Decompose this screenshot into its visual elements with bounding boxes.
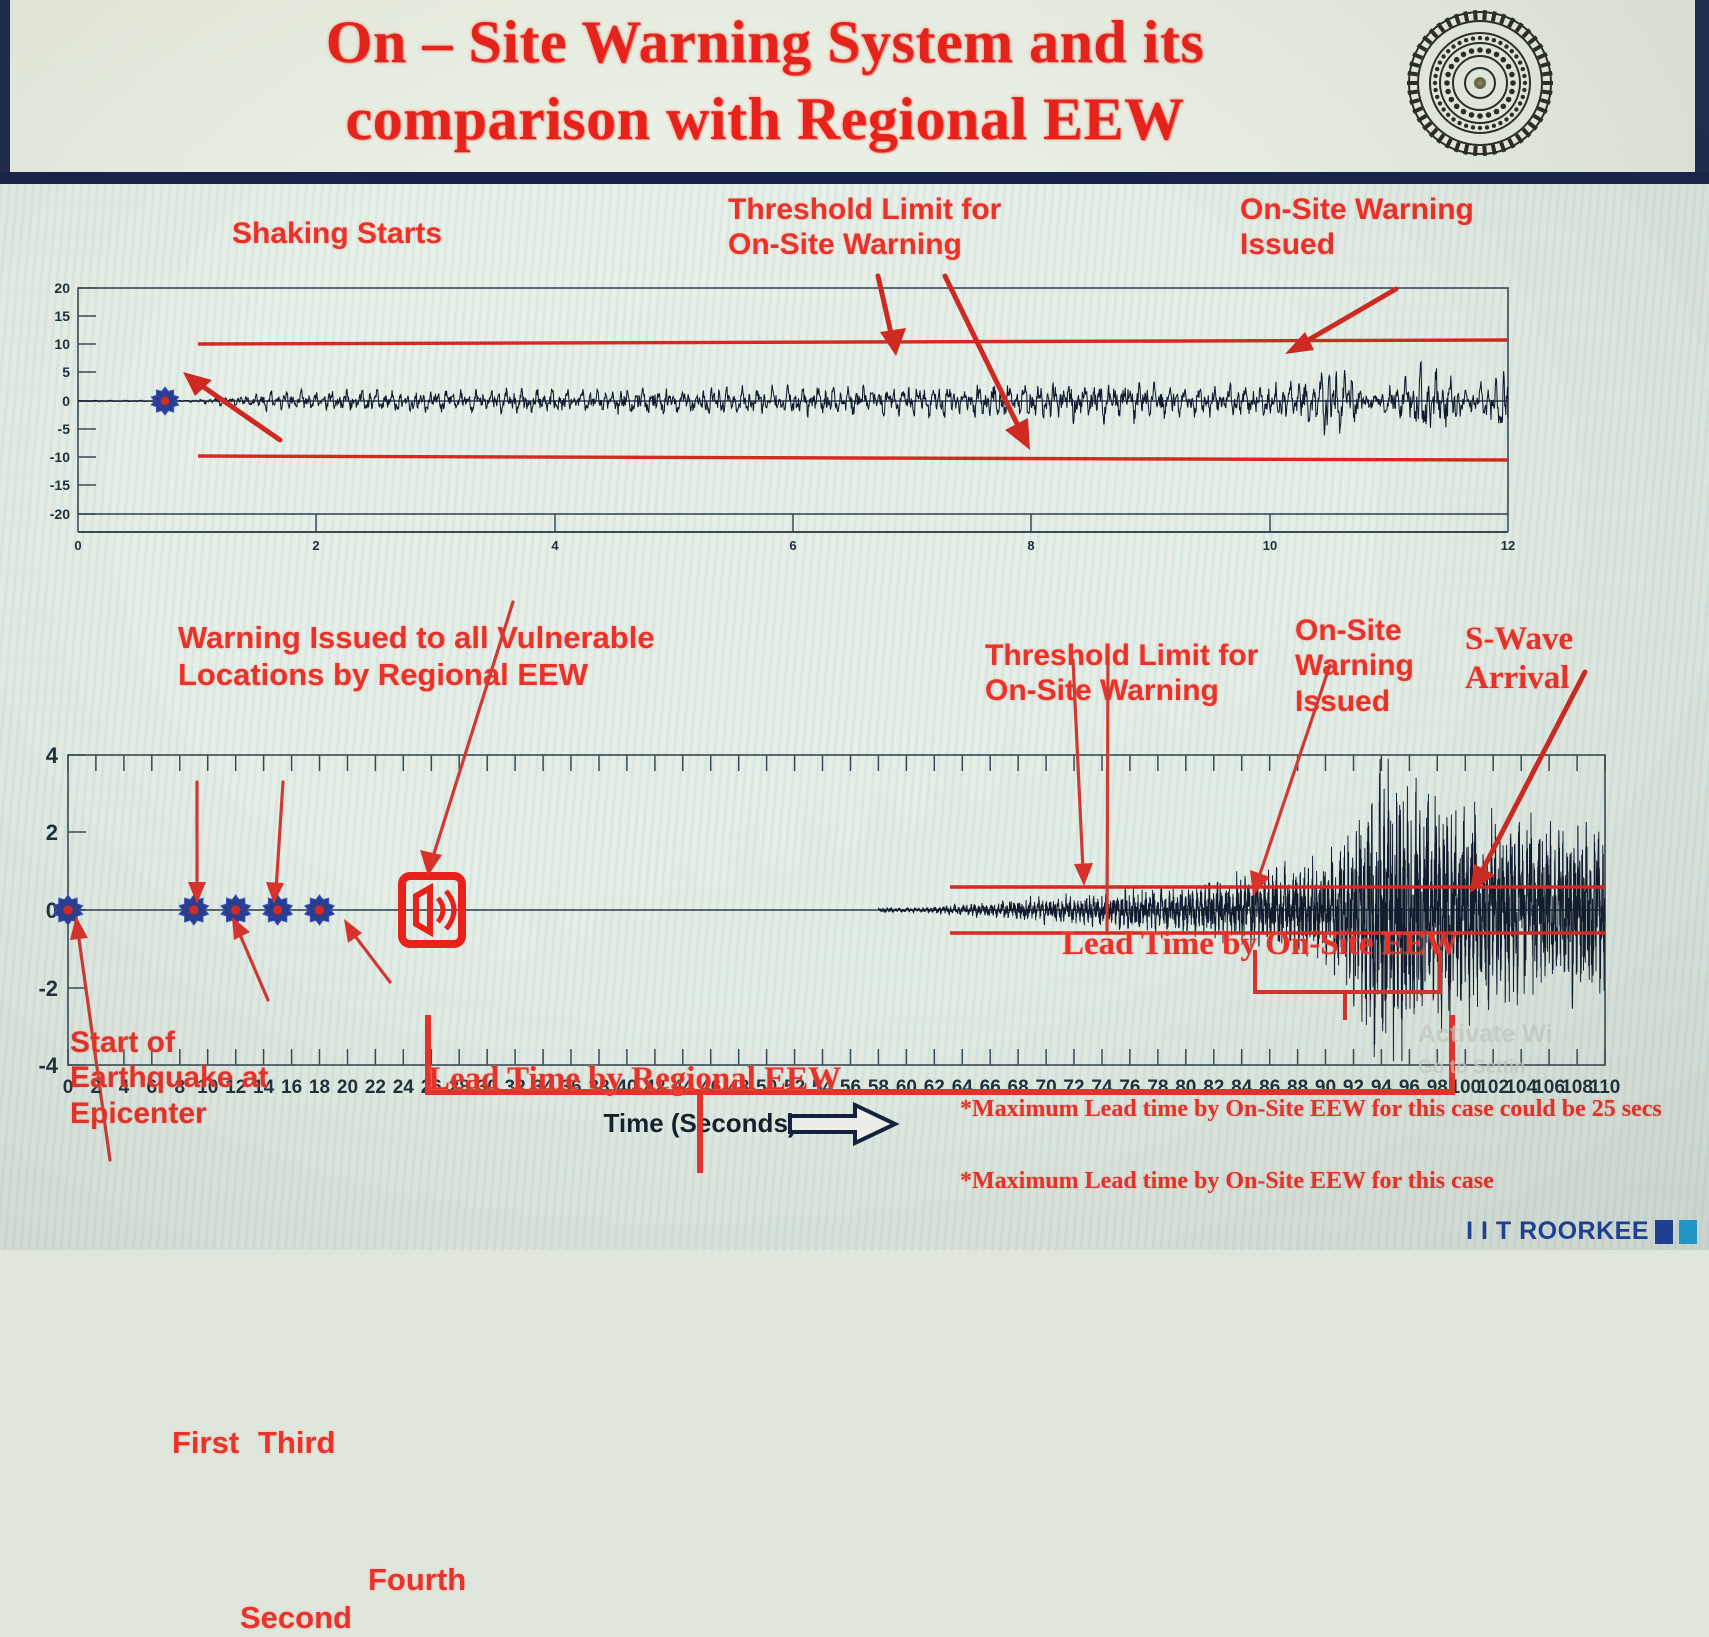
y-tick-label: 5 (62, 364, 70, 380)
title-divider (0, 172, 1709, 184)
first-arrow-icon (188, 782, 206, 904)
threshold-limit-arrow2-icon (945, 276, 1030, 450)
y-tick-label: 10 (54, 336, 70, 352)
bottom-chart: 4 2 0 -2 -4 (0, 700, 1709, 1250)
time-direction-arrow-icon (790, 1105, 895, 1143)
right-edge-bar (1695, 0, 1709, 172)
annotation-fourth: Fourth (368, 1562, 466, 1599)
y-tick-label: 15 (54, 308, 70, 324)
left-edge-bar (0, 0, 10, 172)
y-tick-label: -4 (38, 1053, 58, 1078)
y-tick-label: -20 (50, 506, 70, 522)
annotation-threshold-limit-top: Threshold Limit for On-Site Warning (728, 192, 1001, 263)
annotation-onsite-warning-issued-top: On-Site Warning Issued (1240, 192, 1474, 263)
y-tick-label: 0 (62, 393, 70, 409)
onsite-warning-issued-arrow-bottom-icon (1250, 665, 1330, 896)
shaking-start-marker-icon (151, 387, 178, 415)
page-title: On – Site Warning System and its compari… (140, 4, 1390, 158)
time-seconds-axis-label: Time (Seconds) (603, 1105, 895, 1143)
onsite-warning-issued-arrow-icon (1285, 289, 1396, 354)
top-chart-x-ticks (78, 514, 1508, 532)
annotation-warning-issued-regional: Warning Issued to all Vulnerable Locatio… (178, 620, 655, 693)
annotation-footnote: *Maximum Lead time by On-Site EEW for th… (960, 1055, 1662, 1235)
y-tick-label: -5 (58, 421, 71, 437)
y-tick-label: -15 (50, 477, 70, 493)
x-tick-label: 10 (1263, 538, 1277, 553)
top-chart-waveform (78, 362, 1508, 436)
x-tick-label: 18 (309, 1077, 330, 1098)
bottom-chart-top-ticks (68, 755, 1605, 771)
page-title-line-2: comparison with Regional EEW (140, 81, 1390, 158)
event-marker-icon (263, 895, 292, 925)
y-tick-label: -2 (38, 976, 58, 1001)
top-chart-y-ticklabels: 20 15 10 5 0 -5 -10 -15 -20 (50, 280, 70, 522)
threshold-limit-arrow-bottom2-icon (1107, 658, 1108, 930)
footnote-line-1: *Maximum Lead time by On-Site EEW for th… (960, 1091, 1662, 1127)
annotation-start-of-earthquake: Start of Earthquake at Epicenter (70, 1025, 268, 1131)
event-marker-icon (305, 895, 334, 925)
annotation-lead-time-regional: Lead Time by Regional EEW (428, 1060, 841, 1099)
activate-windows-watermark-sub: Go to Settin (1418, 1057, 1526, 1079)
x-tick-label: 4 (551, 538, 559, 553)
x-tick-label: 20 (337, 1077, 358, 1098)
x-tick-label: 0 (74, 538, 81, 553)
x-tick-label: 2 (312, 538, 319, 553)
page-title-line-1: On – Site Warning System and its (140, 4, 1390, 81)
event-marker-icon (179, 895, 208, 925)
footer-text: I I T ROORKEE (1466, 1217, 1649, 1246)
footer-square-navy (1655, 1220, 1673, 1244)
y-tick-label: 4 (46, 743, 59, 768)
annotation-second: Second (240, 1600, 352, 1637)
second-arrow-icon (232, 917, 268, 1000)
x-tick-label: 24 (393, 1077, 415, 1098)
x-tick-label: 6 (789, 538, 796, 553)
fourth-arrow-icon (344, 919, 390, 982)
footnote-line-2: *Maximum Lead time by On-Site EEW for th… (960, 1163, 1662, 1199)
y-tick-label: -10 (50, 449, 70, 465)
annotation-lead-time-onsite: Lead Time by On-Site EEW (1062, 925, 1459, 964)
x-tick-label: 16 (281, 1077, 302, 1098)
footer-branding: I I T ROORKEE (1466, 1217, 1697, 1246)
x-tick-label: 12 (1501, 538, 1515, 553)
slide-title-band: On – Site Warning System and its compari… (0, 0, 1709, 172)
activate-windows-watermark: Activate Wi (1418, 1020, 1553, 1049)
third-arrow-icon (266, 782, 284, 904)
iit-roorkee-emblem-icon (1405, 8, 1555, 158)
annotation-third: Third (258, 1425, 336, 1462)
annotation-first: First (172, 1425, 239, 1462)
top-chart: 20 15 10 5 0 -5 -10 -15 -20 (0, 184, 1709, 564)
top-chart-x-ticklabels: 0 2 4 6 8 10 12 (74, 538, 1515, 553)
annotation-threshold-limit-bottom: Threshold Limit for On-Site Warning (985, 638, 1258, 709)
x-tick-label: 8 (1027, 538, 1034, 553)
footer-square-cyan (1679, 1220, 1697, 1244)
x-tick-label: 22 (365, 1077, 386, 1098)
annotation-shaking-starts: Shaking Starts (232, 216, 442, 251)
y-tick-label: 2 (46, 820, 58, 845)
bottom-chart-waveform (878, 759, 1605, 1061)
top-chart-threshold-lower (198, 456, 1508, 460)
y-tick-label: 20 (54, 280, 70, 296)
annotation-s-wave-arrival: S-Wave Arrival (1465, 620, 1573, 698)
